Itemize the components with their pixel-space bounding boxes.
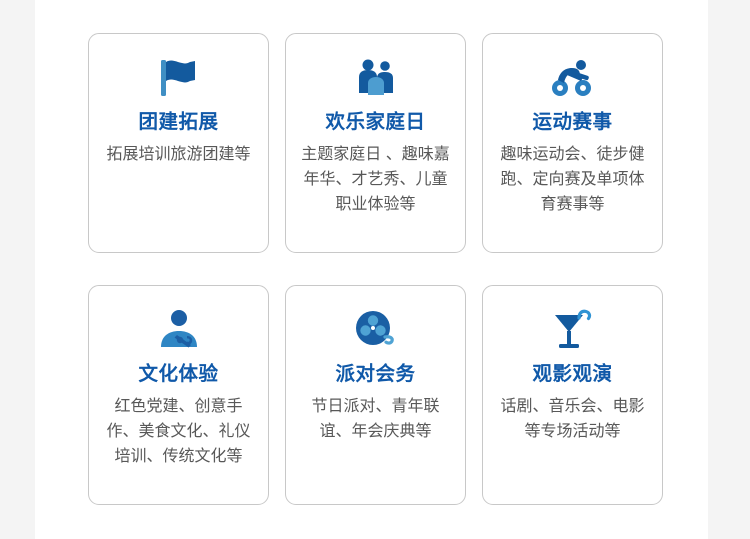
card-title: 文化体验 [138, 361, 218, 387]
card-description: 拓展培训旅游团建等 [103, 142, 255, 167]
service-card[interactable]: 运动赛事 趣味运动会、徒步健跑、定向赛及单项体育赛事等 [482, 33, 663, 253]
content-area: 团建拓展 拓展培训旅游团建等 欢乐家庭日 主题家庭日 、趣味嘉年华、才艺秀、儿童… [35, 0, 708, 539]
card-title: 派对会务 [335, 361, 415, 387]
card-title: 观影观演 [532, 361, 612, 387]
family-icon [349, 53, 403, 103]
cyclist-icon [546, 53, 600, 103]
service-card[interactable]: 派对会务 节日派对、青年联谊、年会庆典等 [285, 285, 466, 505]
card-description: 主题家庭日 、趣味嘉年华、才艺秀、儿童职业体验等 [300, 142, 452, 217]
flag-icon [152, 53, 206, 103]
party-member-icon [152, 305, 206, 355]
card-title: 团建拓展 [138, 109, 218, 135]
card-description: 话剧、音乐会、电影等专场活动等 [497, 394, 649, 444]
card-description: 红色党建、创意手作、美食文化、礼仪培训、传统文化等 [103, 394, 255, 469]
service-card[interactable]: 欢乐家庭日 主题家庭日 、趣味嘉年华、才艺秀、儿童职业体验等 [285, 33, 466, 253]
cocktail-icon [546, 305, 600, 355]
service-category-grid: 团建拓展 拓展培训旅游团建等 欢乐家庭日 主题家庭日 、趣味嘉年华、才艺秀、儿童… [88, 33, 664, 505]
page-root: 团建拓展 拓展培训旅游团建等 欢乐家庭日 主题家庭日 、趣味嘉年华、才艺秀、儿童… [0, 0, 750, 539]
card-title: 运动赛事 [532, 109, 612, 135]
service-card[interactable]: 团建拓展 拓展培训旅游团建等 [88, 33, 269, 253]
film-reel-icon [349, 305, 403, 355]
service-card[interactable]: 文化体验 红色党建、创意手作、美食文化、礼仪培训、传统文化等 [88, 285, 269, 505]
card-description: 节日派对、青年联谊、年会庆典等 [300, 394, 452, 444]
service-card[interactable]: 观影观演 话剧、音乐会、电影等专场活动等 [482, 285, 663, 505]
card-description: 趣味运动会、徒步健跑、定向赛及单项体育赛事等 [497, 142, 649, 217]
card-title: 欢乐家庭日 [325, 109, 425, 135]
